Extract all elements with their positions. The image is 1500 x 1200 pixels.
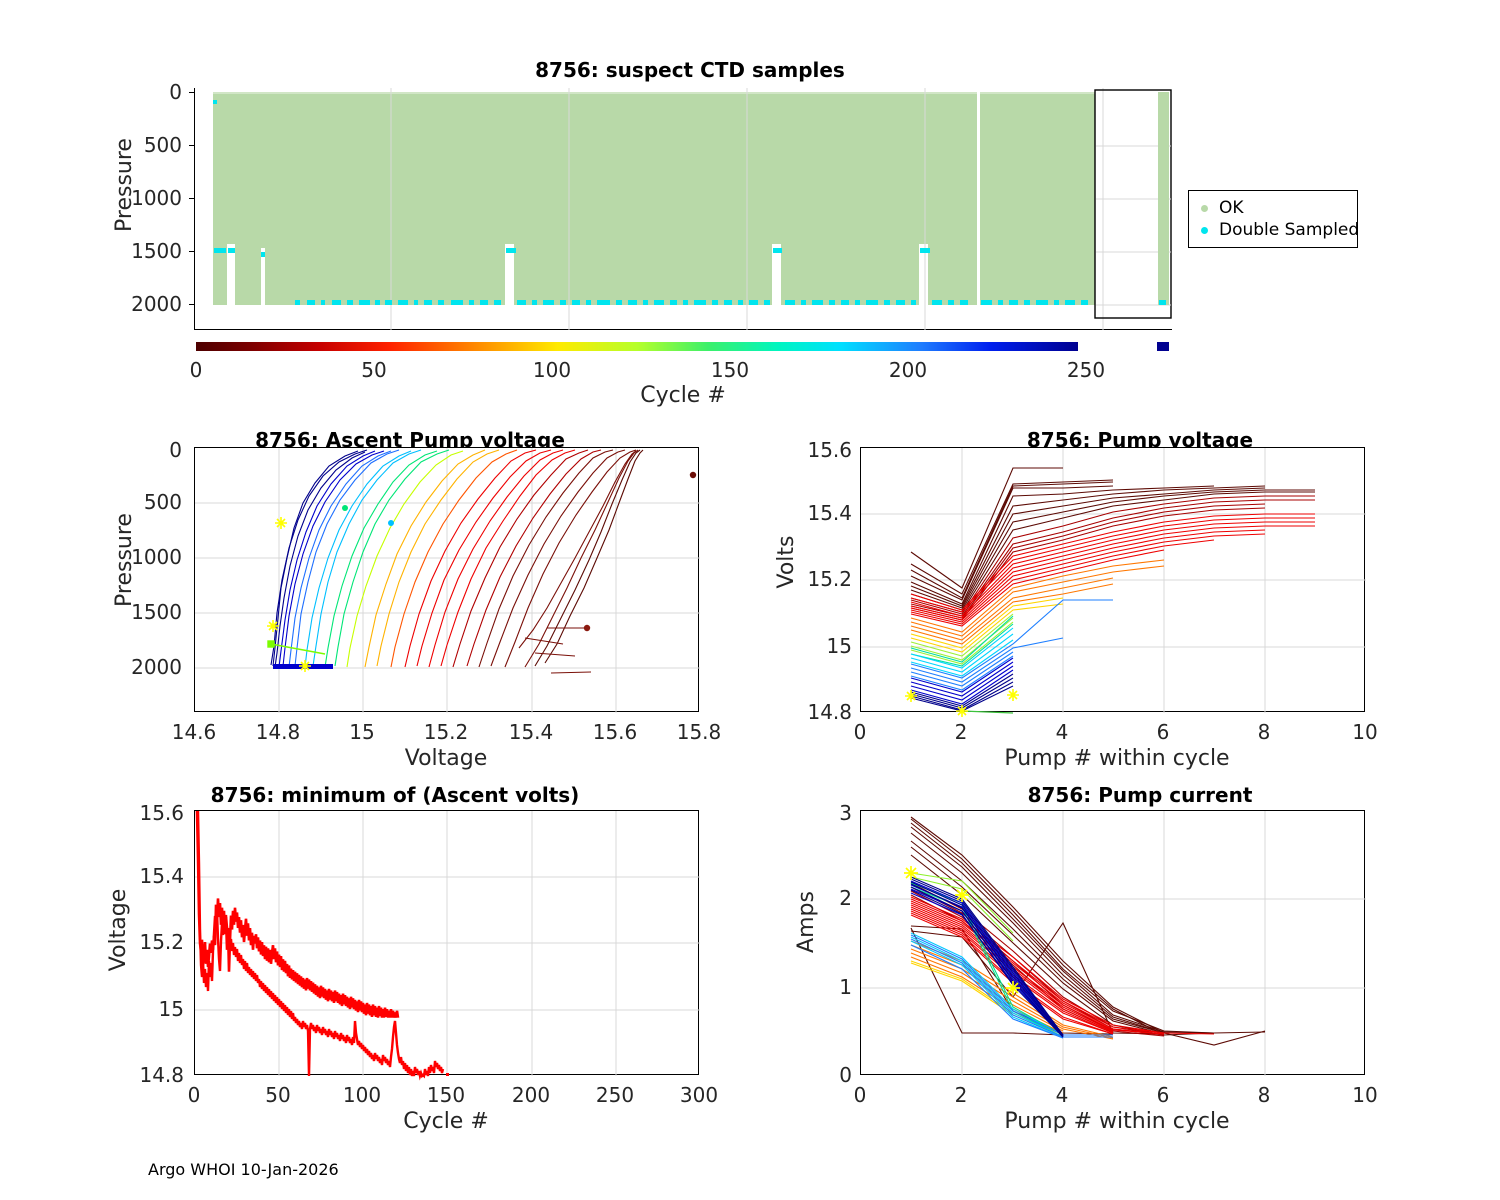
axes-suspect — [194, 88, 1172, 330]
xlabel-ascent-156: 15.6 — [593, 720, 638, 744]
axis-label-pressure-suspect: Pressure — [112, 105, 137, 265]
min-ascent-trace — [197, 811, 398, 1018]
ylabel-suspect-2000: 2000 — [118, 292, 182, 316]
axes-min-ascent-volts — [194, 810, 699, 1075]
xlabel-suspect-250: 250 — [1067, 358, 1105, 382]
suspect-ok-band-late — [1158, 92, 1169, 305]
xlabel-pumpc-6: 6 — [1157, 1083, 1170, 1107]
panel-pump-voltage: 8756: Pump voltage — [750, 410, 1500, 770]
xlabel-minv-50: 50 — [265, 1083, 290, 1107]
ytick-suspect-500 — [189, 145, 195, 146]
xlabel-ascent-158: 15.8 — [677, 720, 722, 744]
xlabel-pumpc-4: 4 — [1056, 1083, 1069, 1107]
panel-title-pump-current: 8756: Pump current — [860, 783, 1420, 807]
xlabel-pumpv-10: 10 — [1352, 720, 1377, 744]
legend-item-double-sampled: Double Sampled — [1197, 219, 1347, 241]
xlabel-pumpv-8: 8 — [1258, 720, 1271, 744]
ylabel-suspect-0: 0 — [130, 80, 182, 104]
ylabel-ascent-2000: 2000 — [118, 655, 182, 679]
ylabel-minv-15: 15 — [112, 997, 184, 1021]
axes-ascent-voltage-box — [194, 447, 699, 712]
min-ascent-gridlines — [195, 811, 700, 1076]
axis-label-cycle-min-ascent: Cycle # — [346, 1109, 546, 1134]
ylabel-pumpv-15: 15 — [780, 634, 852, 658]
ylabel-pumpv-148: 14.8 — [780, 700, 852, 724]
xlabel-suspect-50: 50 — [361, 358, 386, 382]
axis-label-pressure-ascent: Pressure — [112, 480, 137, 640]
xlabel-suspect-100: 100 — [533, 358, 571, 382]
axes-pump-voltage — [860, 447, 1365, 712]
axes-pump-current — [860, 810, 1365, 1075]
min-ascent-late-point — [446, 1073, 449, 1076]
ylabel-ascent-500: 500 — [130, 490, 182, 514]
ytick-suspect-0 — [189, 92, 195, 93]
panel-suspect-ctd-samples: 8756: suspect CTD samples — [0, 0, 1500, 400]
legend-suspect: OK Double Sampled — [1188, 190, 1358, 248]
ytick-suspect-1500 — [189, 251, 195, 252]
outlier-point-high-voltage — [690, 472, 696, 478]
xlabel-pumpv-2: 2 — [955, 720, 968, 744]
xlabel-pumpc-2: 2 — [955, 1083, 968, 1107]
legend-item-ok: OK — [1197, 197, 1347, 219]
panel-title-suspect: 8756: suspect CTD samples — [0, 58, 1380, 82]
ylabel-pumpv-156: 15.6 — [780, 438, 852, 462]
legend-swatch-ok-icon — [1201, 205, 1208, 212]
xlabel-ascent-146: 14.6 — [172, 720, 217, 744]
xlabel-pumpv-0: 0 — [854, 720, 867, 744]
figure-footer: Argo WHOI 10-Jan-2026 — [148, 1160, 339, 1179]
xlabel-minv-250: 250 — [596, 1083, 634, 1107]
panel-pump-current: 8756: Pump current — [750, 765, 1500, 1145]
xlabel-minv-200: 200 — [512, 1083, 550, 1107]
min-ascent-volts-svg — [195, 811, 700, 1076]
ylabel-amps-0: 0 — [800, 1063, 852, 1087]
ascent-voltage-markers — [342, 472, 696, 631]
xlabel-ascent-15: 15 — [349, 720, 374, 744]
xlabel-ascent-152: 15.2 — [424, 720, 469, 744]
xlabel-pumpv-4: 4 — [1056, 720, 1069, 744]
ylabel-suspect-500: 500 — [130, 133, 182, 157]
xlabel-minv-100: 100 — [343, 1083, 381, 1107]
ytick-suspect-1000 — [189, 198, 195, 199]
xlabel-suspect-0: 0 — [190, 358, 203, 382]
ylabel-minv-148: 14.8 — [112, 1063, 184, 1087]
xlabel-pumpv-6: 6 — [1157, 720, 1170, 744]
xlabel-suspect-200: 200 — [889, 358, 927, 382]
ylabel-ascent-0: 0 — [130, 438, 182, 462]
cycle-colorbar-late — [1157, 342, 1169, 351]
axis-label-pump-number-current: Pump # within cycle — [1002, 1109, 1232, 1134]
pump-voltage-series — [911, 468, 1315, 713]
axis-label-volts: Volts — [774, 502, 799, 622]
panel-min-ascent-volts: 8756: minimum of (Ascent volts) 14.8 15 — [0, 765, 750, 1145]
cycle-colorbar — [196, 342, 1078, 351]
xlabel-minv-150: 150 — [427, 1083, 465, 1107]
axis-label-amps: Amps — [794, 857, 819, 987]
panel-ascent-pump-voltage: 8756: Ascent Pump voltage — [0, 410, 750, 770]
suspect-ok-band — [213, 88, 1169, 305]
xlabel-minv-300: 300 — [680, 1083, 718, 1107]
pump-voltage-svg — [861, 448, 1366, 713]
xlabel-pumpc-10: 10 — [1352, 1083, 1377, 1107]
legend-swatch-double-sampled-icon — [1201, 227, 1208, 234]
xlabel-minv-0: 0 — [188, 1083, 201, 1107]
xlabel-pumpc-8: 8 — [1258, 1083, 1271, 1107]
xlabel-suspect-150: 150 — [711, 358, 749, 382]
pump-current-svg — [861, 811, 1366, 1076]
xlabel-ascent-148: 14.8 — [256, 720, 301, 744]
xlabel-ascent-154: 15.4 — [509, 720, 554, 744]
ylabel-amps-3: 3 — [800, 801, 852, 825]
pump-current-series — [911, 817, 1265, 1045]
ytick-suspect-2000 — [189, 304, 195, 305]
legend-label-ok: OK — [1219, 198, 1244, 218]
legend-label-double-sampled: Double Sampled — [1219, 220, 1359, 240]
suspect-plot-svg — [195, 88, 1173, 330]
pump-current-gridlines — [861, 811, 1366, 1076]
pump-voltage-gridlines — [861, 448, 1366, 713]
axis-label-cycle-suspect: Cycle # — [583, 383, 783, 408]
xlabel-pumpc-0: 0 — [854, 1083, 867, 1107]
axis-label-voltage-min-ascent: Voltage — [106, 860, 131, 1000]
ascent-voltage-svg — [195, 448, 700, 713]
ylabel-minv-156: 15.6 — [112, 801, 184, 825]
